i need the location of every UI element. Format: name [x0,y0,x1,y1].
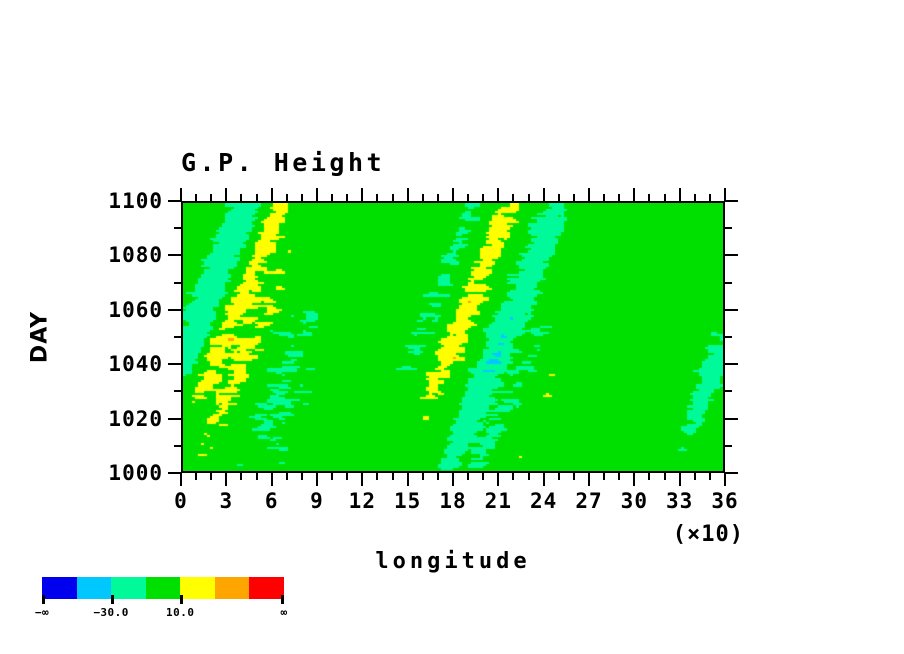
y-major-tick [168,472,181,474]
x-major-tick-top [452,188,454,201]
x-major-tick [724,473,726,486]
y-tick-label: 1080 [108,243,163,267]
x-tick-label: 6 [265,489,279,513]
y-tick-label: 1020 [108,407,163,431]
x-minor-tick-top [528,194,530,201]
x-minor-tick [528,473,530,480]
x-minor-tick-top [437,194,439,201]
x-minor-tick [618,473,620,480]
y-major-tick [168,254,181,256]
colorbar-tick [42,595,45,604]
x-minor-tick [210,473,212,480]
colorbar-swatch-spring-green [111,577,146,599]
colorbar [42,577,284,599]
x-minor-tick-top [392,194,394,201]
x-major-tick [225,473,227,486]
colorbar-swatch-red [249,577,284,599]
x-major-tick-top [316,188,318,201]
x-major-tick [271,473,273,486]
colorbar-tick [111,595,114,604]
x-tick-label: 24 [530,489,557,513]
x-minor-tick-top [331,194,333,201]
x-minor-tick [558,473,560,480]
x-tick-label: 9 [310,489,324,513]
x-minor-tick-top [467,194,469,201]
y-minor-tick [174,282,181,284]
figure-canvas: G.P. Height 0369121518212427303336100010… [0,0,904,654]
x-minor-tick-top [210,194,212,201]
x-minor-tick-top [664,194,666,201]
x-major-tick [316,473,318,486]
x-minor-tick [346,473,348,480]
x-minor-tick [256,473,258,480]
y-major-tick-right [725,309,738,311]
colorbar-tick [180,595,183,604]
x-minor-tick-top [573,194,575,201]
x-major-tick-top [225,188,227,201]
x-major-tick [543,473,545,486]
x-minor-tick [512,473,514,480]
x-minor-tick [392,473,394,480]
x-tick-label: 27 [575,489,602,513]
x-minor-tick [240,473,242,480]
x-tick-label: 21 [485,489,512,513]
y-tick-label: 1040 [108,352,163,376]
colorbar-swatch-yellow [180,577,215,599]
x-minor-tick [603,473,605,480]
y-minor-tick [174,390,181,392]
x-major-tick-top [633,188,635,201]
x-minor-tick-top [240,194,242,201]
x-tick-label: 18 [439,489,466,513]
y-major-tick [168,363,181,365]
x-minor-tick [195,473,197,480]
colorbar-label: 10.0 [166,606,195,619]
x-minor-tick [376,473,378,480]
y-minor-tick [174,445,181,447]
x-major-tick [588,473,590,486]
x-minor-tick [648,473,650,480]
y-minor-tick-right [725,390,732,392]
x-major-tick [633,473,635,486]
y-major-tick [168,418,181,420]
x-major-tick-top [407,188,409,201]
heatmap-image [183,203,723,471]
x-minor-tick-top [286,194,288,201]
x-major-tick [679,473,681,486]
x-tick-label: 30 [621,489,648,513]
x-minor-tick-top [709,194,711,201]
x-tick-label: 36 [711,489,738,513]
x-minor-tick [422,473,424,480]
x-major-tick-top [497,188,499,201]
x-major-tick [452,473,454,486]
x-minor-tick-top [346,194,348,201]
y-major-tick-right [725,254,738,256]
colorbar-label: ∞ [280,606,287,619]
x-minor-tick-top [512,194,514,201]
y-minor-tick-right [725,445,732,447]
plot-area [181,201,725,473]
x-minor-tick [331,473,333,480]
x-tick-label: 15 [394,489,421,513]
y-minor-tick-right [725,282,732,284]
y-major-tick [168,309,181,311]
x-minor-tick-top [376,194,378,201]
x-axis-title: longitude [375,549,530,574]
colorbar-tick [281,595,284,604]
x-minor-tick-top [195,194,197,201]
y-minor-tick-right [725,336,732,338]
x-major-tick-top [271,188,273,201]
x-major-tick [407,473,409,486]
x-tick-label: 33 [666,489,693,513]
x-major-tick-top [588,188,590,201]
y-major-tick-right [725,472,738,474]
x-minor-tick-top [618,194,620,201]
x-minor-tick-top [482,194,484,201]
y-tick-label: 1000 [108,461,163,485]
y-major-tick-right [725,363,738,365]
x-major-tick [361,473,363,486]
page-title: G.P. Height [181,148,385,177]
colorbar-label: −30.0 [93,606,129,619]
x-major-tick-top [679,188,681,201]
x-minor-tick [437,473,439,480]
x-minor-tick-top [301,194,303,201]
y-minor-tick [174,227,181,229]
x-minor-tick [482,473,484,480]
x-tick-label: 3 [220,489,234,513]
colorbar-swatch-cyan [77,577,112,599]
y-tick-label: 1060 [108,298,163,322]
x-major-tick-top [361,188,363,201]
y-major-tick-right [725,418,738,420]
y-minor-tick [174,336,181,338]
x-major-tick [497,473,499,486]
y-tick-label: 1100 [108,189,163,213]
x-minor-tick [467,473,469,480]
y-minor-tick-right [725,227,732,229]
y-axis-title: DAY [28,311,53,363]
x-minor-tick [694,473,696,480]
colorbar-label: −∞ [35,606,49,619]
x-tick-label: 0 [174,489,188,513]
x-minor-tick-top [558,194,560,201]
x-minor-tick [664,473,666,480]
x-minor-tick-top [694,194,696,201]
x-minor-tick-top [422,194,424,201]
x-minor-tick-top [603,194,605,201]
y-major-tick [168,200,181,202]
x-minor-tick [286,473,288,480]
colorbar-swatch-green [146,577,181,599]
x-minor-tick-top [256,194,258,201]
x-minor-tick [301,473,303,480]
colorbar-swatch-blue [42,577,77,599]
x-axis-multiplier-note: (×10) [673,522,744,547]
colorbar-swatch-orange [215,577,250,599]
x-major-tick [180,473,182,486]
x-minor-tick-top [648,194,650,201]
x-tick-label: 12 [349,489,376,513]
x-major-tick-top [543,188,545,201]
y-major-tick-right [725,200,738,202]
x-minor-tick [709,473,711,480]
x-minor-tick [573,473,575,480]
